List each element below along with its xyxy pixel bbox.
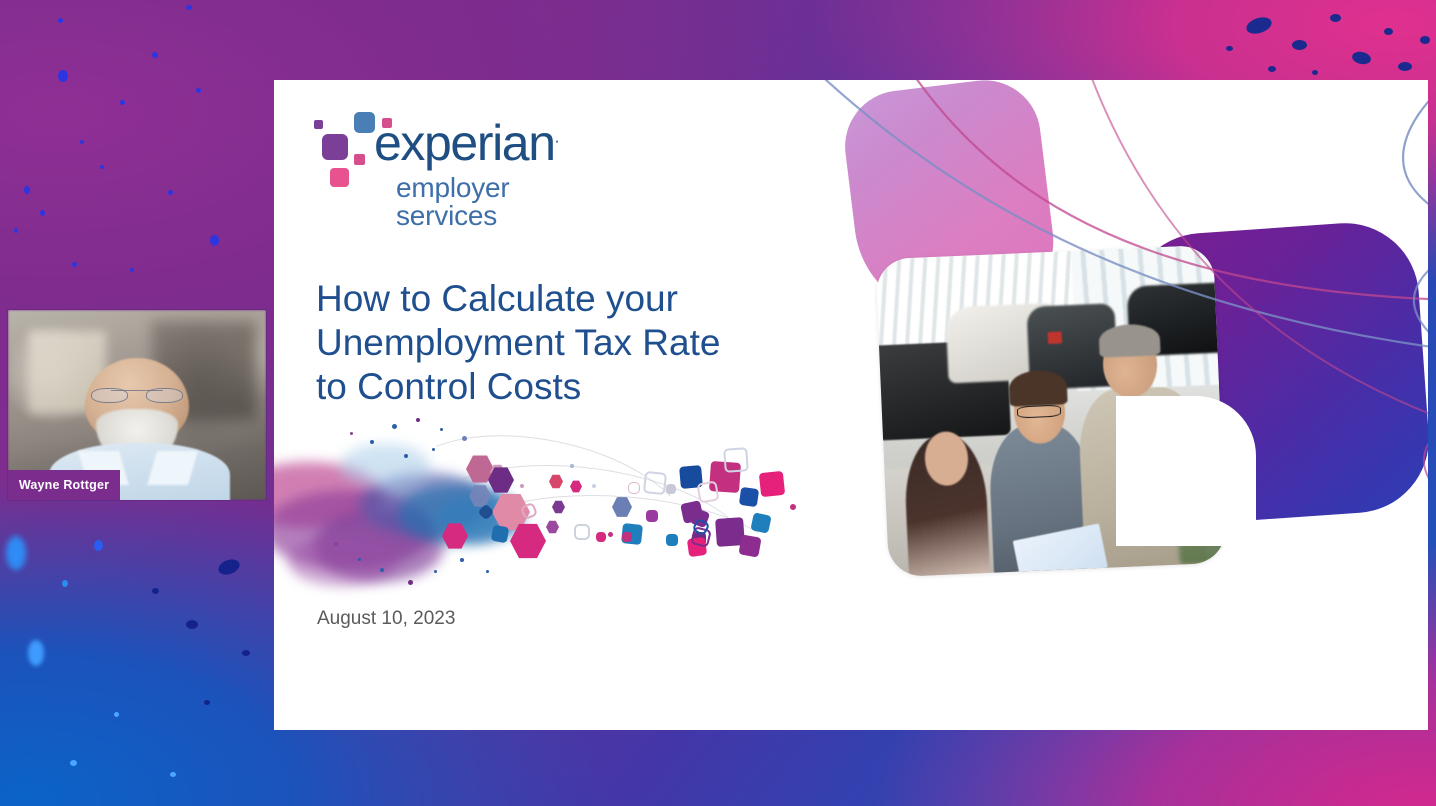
decor-splatter [40, 210, 45, 216]
splash-dot [350, 432, 353, 435]
splash-dot [608, 532, 613, 537]
decor-splatter [1226, 46, 1233, 51]
splash-dot [460, 558, 464, 562]
splash-dot [432, 448, 435, 451]
slide-title-line: How to Calculate your [316, 278, 678, 319]
splash-dot [462, 436, 467, 441]
splash-rounded-square [750, 512, 771, 533]
decor-splatter [168, 190, 173, 195]
splash-dot [486, 570, 489, 573]
splash-outline-square [643, 471, 667, 495]
decor-splatter [152, 52, 158, 58]
splash-rounded-square [738, 534, 761, 557]
decor-splatter [1292, 40, 1307, 50]
splash-dot [434, 570, 437, 573]
decor-splatter [1384, 28, 1393, 35]
splash-dot [392, 424, 397, 429]
slide-title-line: to Control Costs [316, 366, 581, 407]
logo-dot-purple-square [322, 134, 348, 160]
decor-splatter [114, 712, 119, 717]
decor-splatter [120, 100, 125, 105]
decor-paint-splash [274, 410, 814, 600]
splash-rounded-square [646, 510, 658, 522]
decor-splatter [1420, 36, 1430, 44]
decor-splatter [14, 228, 18, 233]
decor-splatter [130, 268, 134, 272]
splash-dot [370, 440, 374, 444]
logo-wordmark-text: experian [374, 115, 555, 171]
logo-trademark: . [555, 127, 560, 146]
splash-rounded-square [622, 532, 632, 542]
eyeglass-bridge [111, 390, 163, 392]
splash-rounded-square [491, 525, 510, 544]
splash-dot [334, 542, 338, 546]
splash-rounded-square [666, 484, 676, 494]
decor-splatter [1330, 14, 1341, 22]
decor-splatter [72, 262, 77, 267]
logo-wordmark: experian. [374, 118, 559, 168]
splash-rounded-square [666, 534, 678, 546]
splash-dot [408, 580, 413, 585]
splash-dot [790, 504, 796, 510]
logo-dot-purple-small [314, 120, 323, 129]
decor-splatter [242, 650, 250, 656]
slide-title: How to Calculate your Unemployment Tax R… [316, 277, 836, 409]
decor-splatter [58, 70, 68, 82]
decor-splatter [70, 760, 77, 766]
decor-splatter [6, 536, 26, 570]
decor-splatter [186, 5, 192, 10]
decor-splatter [204, 700, 210, 705]
logo-dot-pink-mid [354, 154, 365, 165]
logo-dot-pink-square [330, 168, 349, 187]
decor-splatter [100, 165, 104, 169]
splash-rounded-square [596, 532, 606, 542]
splash-outline-square [574, 524, 590, 540]
decor-splatter [152, 588, 159, 594]
participant-name-badge: Wayne Rottger [8, 470, 120, 500]
decor-splatter [170, 772, 176, 777]
decor-thin-curves [814, 80, 1428, 470]
slide-date: August 10, 2023 [317, 608, 455, 630]
splash-dot [404, 454, 408, 458]
splash-dot [520, 484, 524, 488]
splash-dot [570, 464, 574, 468]
splash-paint-cloud [288, 536, 396, 586]
decor-splatter [28, 640, 44, 666]
decor-splatter [1268, 66, 1276, 72]
decor-splatter [1312, 70, 1318, 75]
experian-employer-services-logo: experian. employer services [314, 112, 614, 222]
decor-thin-curves-right [1354, 80, 1428, 580]
splash-outline-square [628, 482, 640, 494]
decor-splatter [80, 140, 84, 144]
splash-dot [416, 418, 420, 422]
decor-splatter [24, 186, 30, 194]
splash-outline-square [723, 447, 749, 473]
participant-name-label: Wayne Rottger [19, 478, 109, 492]
decor-splatter [62, 580, 68, 587]
decor-splatter [1398, 62, 1412, 71]
splash-rounded-square [739, 487, 759, 507]
splash-dot [380, 568, 384, 572]
splash-outline-square [696, 480, 719, 503]
decor-splatter [210, 235, 219, 246]
logo-tagline: employer services [396, 174, 614, 230]
presentation-slide[interactable]: experian. employer services How to Calcu… [274, 80, 1428, 730]
splash-rounded-square [759, 471, 785, 497]
decor-splatter [58, 18, 63, 23]
splash-dot [440, 428, 443, 431]
splash-dot [358, 558, 361, 561]
decor-splatter [186, 620, 198, 629]
splash-dot [592, 484, 596, 488]
slide-title-line: Unemployment Tax Rate [316, 322, 720, 363]
decor-splatter [196, 88, 201, 93]
decor-splatter [94, 540, 103, 551]
logo-dot-blue-square [354, 112, 375, 133]
